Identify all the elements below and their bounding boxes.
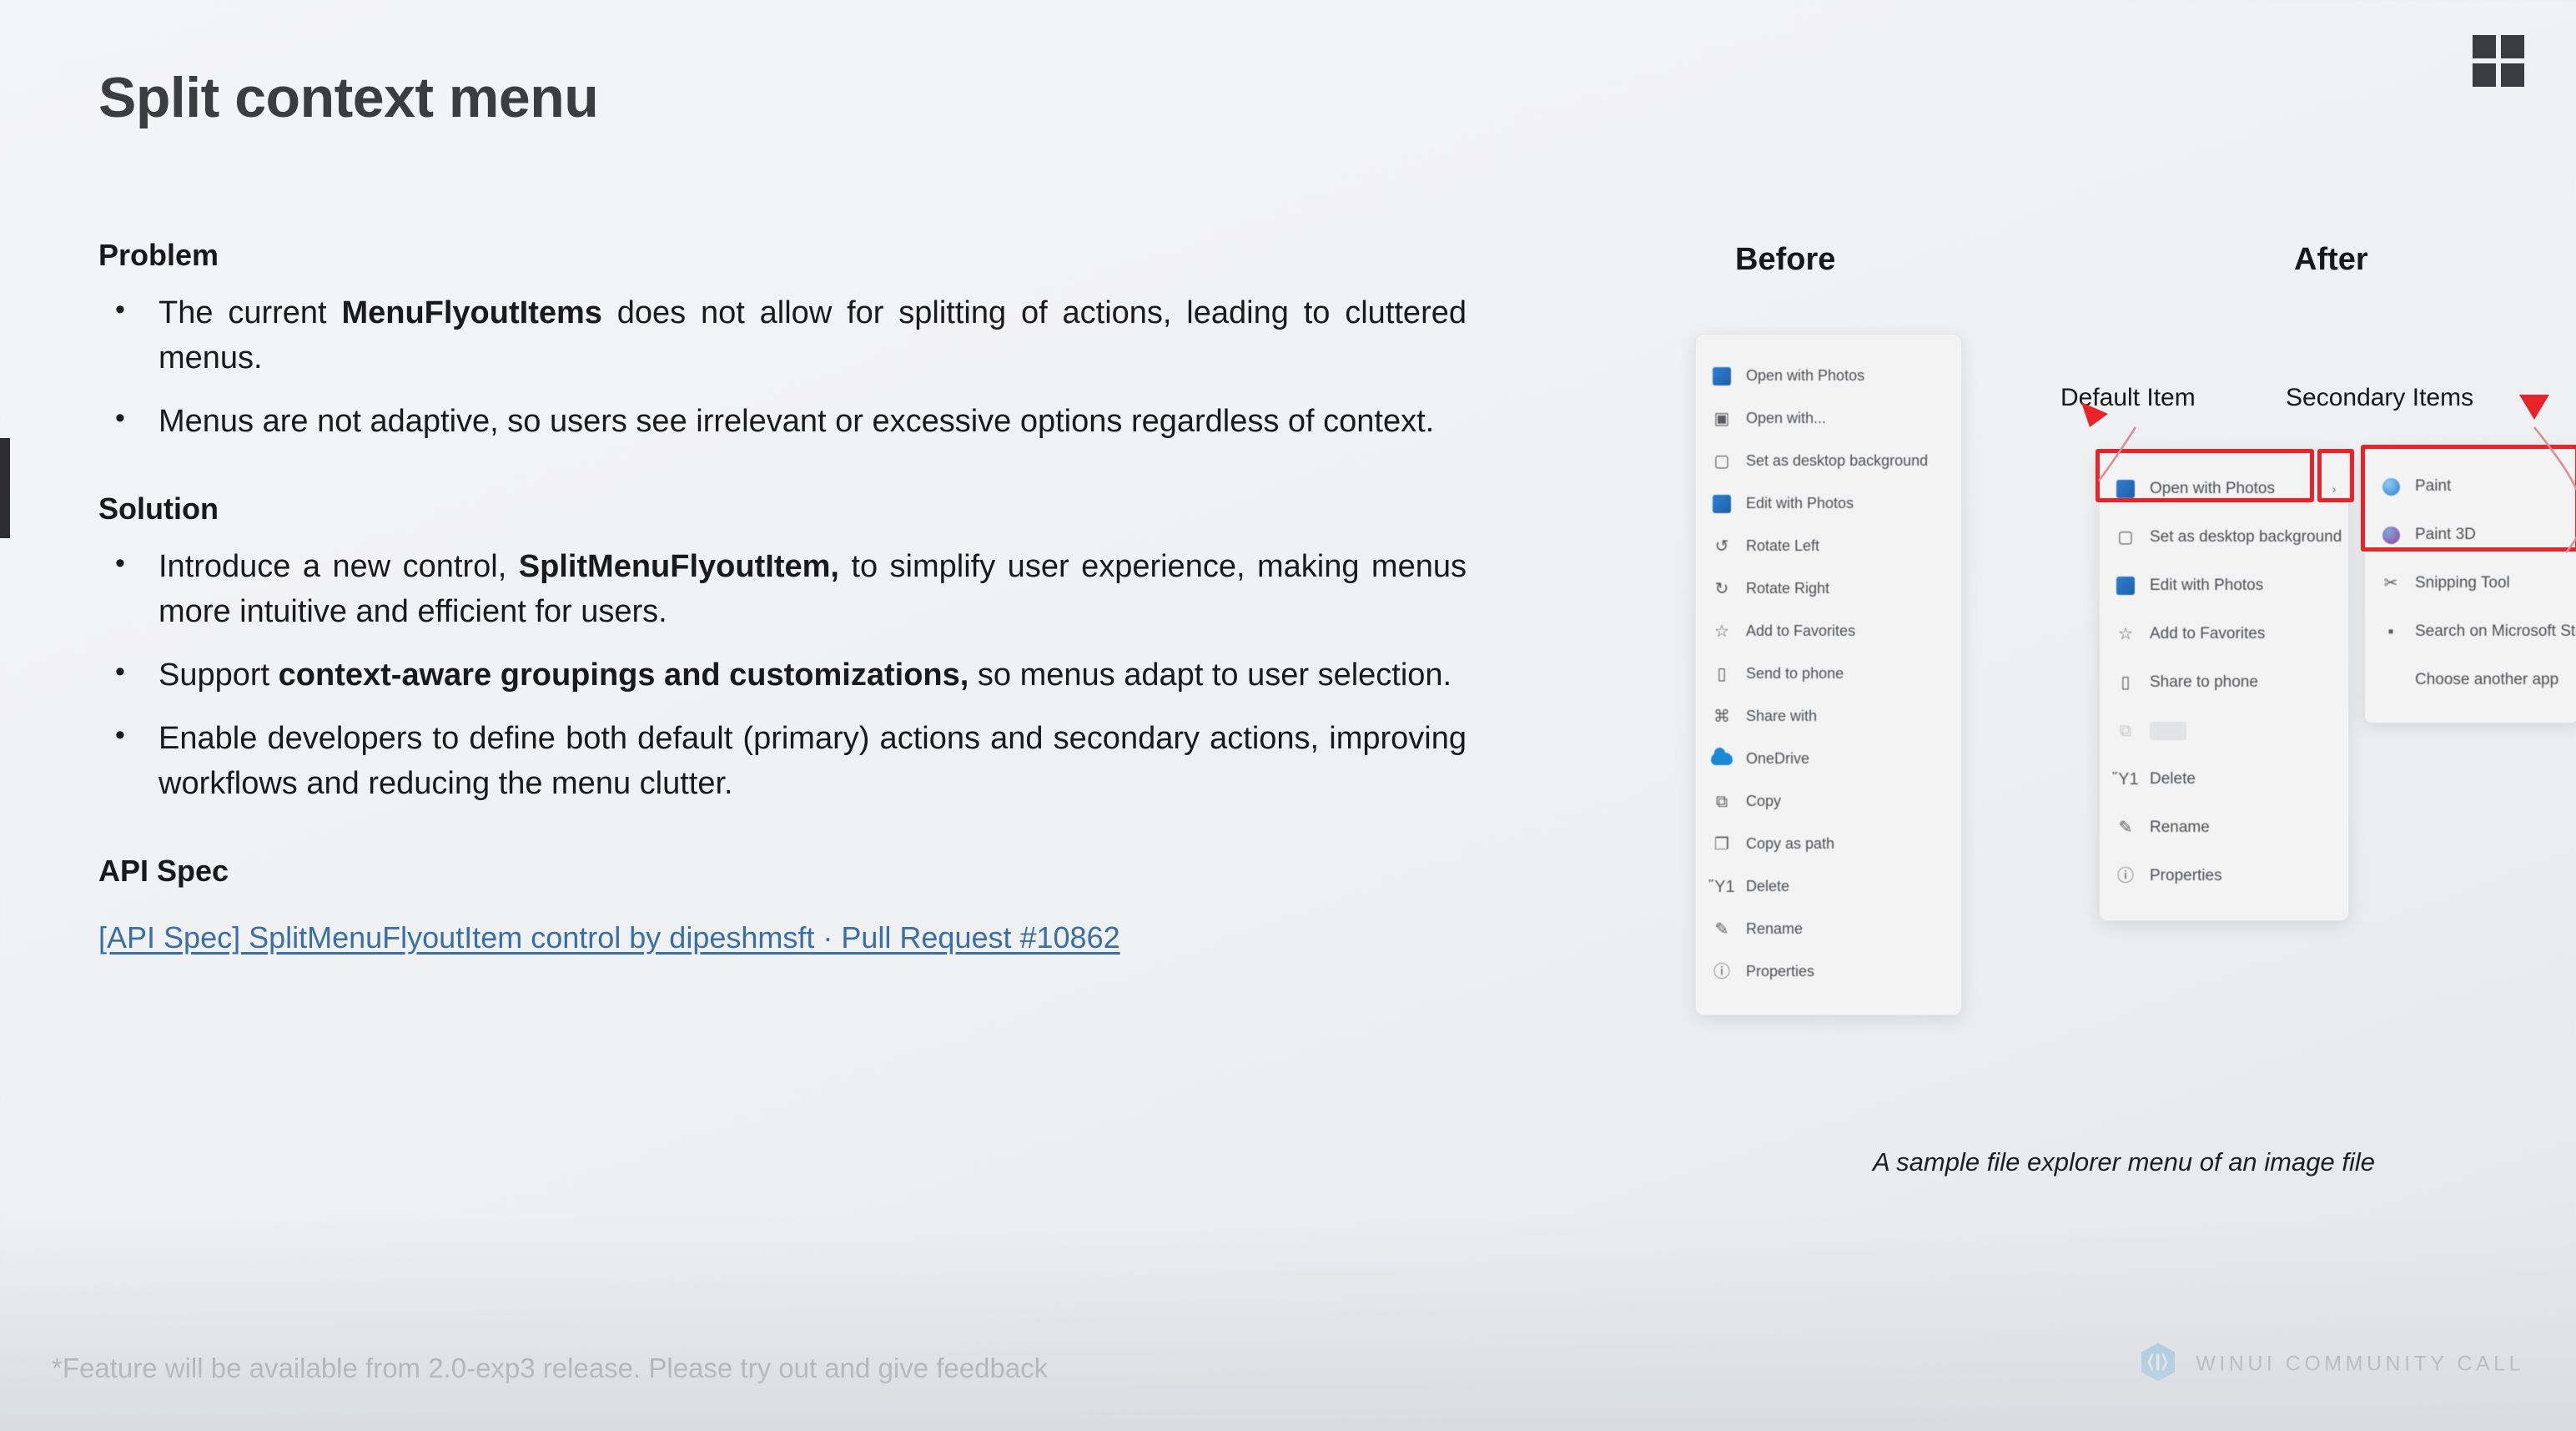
problem-heading: Problem (98, 238, 1467, 273)
before-label: Before (1735, 242, 1835, 278)
menu-item[interactable]: ↺Rotate Left (1696, 525, 1961, 567)
slide-edge-sliver (0, 438, 10, 538)
menu-item-label: Snipping Tool (2415, 574, 2510, 592)
rotate-left-icon: ↺ (1711, 536, 1733, 557)
menu-item[interactable]: ✎Rename (1696, 908, 1961, 950)
menu-item[interactable]: ⓘProperties (1696, 950, 1961, 993)
list-item: The current MenuFlyoutItems does not all… (98, 291, 1467, 381)
snipping-tool-icon: ✂ (2380, 572, 2402, 594)
menu-item[interactable]: Open with Photos (1696, 355, 1961, 397)
trash-icon: Ὕ1 (1711, 876, 1733, 898)
menu-item[interactable]: ▣Open with... (1696, 397, 1961, 440)
bullet-text-bold: context-aware groupings and customizatio… (279, 658, 969, 693)
menu-item-label: Properties (2150, 867, 2222, 885)
secondary-items-highlight-box (2361, 445, 2576, 552)
rename-icon: ✎ (2115, 817, 2136, 839)
properties-icon: ⓘ (1711, 961, 1733, 983)
menu-item-label: Share with (1746, 708, 1817, 725)
menu-item[interactable]: Ὕ1Delete (2100, 755, 2348, 804)
share-icon: ⌘ (1711, 706, 1733, 728)
menu-item[interactable]: Edit with Photos (1696, 482, 1961, 525)
photos-app-icon (2115, 575, 2136, 597)
menu-item-label: Copy (2150, 722, 2186, 740)
windows-logo-icon (2473, 35, 2524, 87)
rename-icon: ✎ (1711, 919, 1733, 940)
menu-item-label: Edit with Photos (2150, 577, 2263, 595)
menu-item[interactable]: ▢Set as desktop background (2100, 513, 2348, 562)
menu-item-label: Set as desktop background (1746, 452, 1928, 470)
menu-item[interactable]: Choose another app (2365, 656, 2576, 704)
solution-heading: Solution (98, 491, 1467, 527)
blank-icon (2380, 669, 2402, 691)
menu-item-label: Rename (1746, 920, 1803, 938)
demo-caption: A sample file explorer menu of an image … (1782, 1147, 2466, 1177)
menu-item-label: Open with Photos (1746, 367, 1864, 385)
menu-item[interactable]: ▢Set as desktop background (1696, 440, 1961, 482)
onedrive-cloud-icon (1711, 748, 1733, 770)
bullet-text-post: so menus adapt to user selection. (969, 658, 1452, 693)
menu-item-label: Rotate Right (1746, 580, 1829, 597)
menu-item-label: Set as desktop background (2150, 528, 2342, 547)
bullet-text-pre: Enable developers to define both default… (158, 721, 1467, 801)
list-item: Menus are not adaptive, so users see irr… (98, 400, 1467, 445)
menu-item-label: Rotate Left (1746, 537, 1819, 555)
trash-icon: Ὕ1 (2115, 768, 2136, 790)
bullet-text-bold: MenuFlyoutItems (341, 295, 601, 330)
after-context-menu[interactable]: Open with Photos›▢Set as desktop backgro… (2099, 451, 2349, 921)
copy-as-path-icon: ❐ (1711, 834, 1733, 855)
menu-item[interactable]: OneDrive (1696, 738, 1961, 780)
solution-bullet-list: Introduce a new control, SplitMenuFlyout… (98, 545, 1467, 807)
list-item: Enable developers to define both default… (98, 717, 1467, 807)
before-context-menu[interactable]: Open with Photos▣Open with...▢Set as des… (1695, 334, 1962, 1015)
menu-item[interactable]: ⓘProperties (2100, 852, 2348, 900)
api-spec-heading: API Spec (98, 854, 1467, 889)
menu-item[interactable]: ▪Search on Microsoft Store (2365, 607, 2576, 656)
bullet-text-pre: Introduce a new control, (158, 549, 519, 584)
star-icon: ☆ (2115, 623, 2136, 645)
menu-item-label: Copy (1746, 793, 1781, 810)
phone-icon: ▯ (1711, 663, 1733, 685)
menu-item-label: Copy as path (1746, 835, 1834, 853)
menu-item-label: Share to phone (2150, 673, 2258, 692)
default-item-annotation-label: Default Item (2060, 384, 2196, 412)
desktop-background-icon: ▢ (2115, 527, 2136, 548)
after-label: After (2294, 242, 2368, 278)
bullet-text-pre: The current (158, 295, 341, 330)
menu-item[interactable]: Edit with Photos (2100, 562, 2348, 610)
menu-item-label: Add to Favorites (2150, 625, 2265, 643)
menu-item-label: Rename (2150, 819, 2210, 837)
menu-item-label: Properties (1746, 963, 1814, 980)
menu-item-label: Open with... (1746, 410, 1826, 427)
menu-item[interactable]: ↻Rotate Right (1696, 567, 1961, 610)
microsoft-store-icon: ▪ (2380, 621, 2402, 642)
menu-item[interactable]: ☆Add to Favorites (2100, 610, 2348, 658)
page-title: Split context menu (98, 65, 598, 130)
menu-item[interactable]: ▯Share to phone (2100, 658, 2348, 707)
open-with-icon: ▣ (1711, 408, 1733, 430)
desktop-background-icon: ▢ (1711, 451, 1733, 472)
menu-item[interactable]: ✎Rename (2100, 804, 2348, 852)
split-chevron-highlight-box (2317, 449, 2354, 502)
secondary-items-arrow-head (2519, 395, 2549, 420)
menu-item[interactable]: ⌘Share with (1696, 695, 1961, 738)
menu-item-label: Delete (2150, 770, 2196, 789)
menu-item-label: Delete (1746, 878, 1789, 895)
menu-item-label: Choose another app (2415, 671, 2558, 689)
bullet-text-bold: SplitMenuFlyoutItem, (519, 549, 839, 584)
rotate-right-icon: ↻ (1711, 578, 1733, 600)
menu-item[interactable]: ☆Add to Favorites (1696, 610, 1961, 653)
menu-item-label: Search on Microsoft Store (2415, 622, 2576, 641)
winui-hexagon-logo-icon (2139, 1342, 2177, 1388)
menu-item[interactable]: ✂Snipping Tool (2365, 559, 2576, 607)
menu-item[interactable]: ⧉Copy (2100, 707, 2348, 755)
photos-app-icon (1711, 365, 1733, 387)
photos-app-icon (1711, 493, 1733, 515)
properties-icon: ⓘ (2115, 865, 2136, 887)
menu-item[interactable]: ▯Send to phone (1696, 653, 1961, 695)
menu-item-label: Send to phone (1746, 665, 1844, 683)
list-item: Support context-aware groupings and cust… (98, 653, 1467, 698)
default-item-highlight-box (2096, 449, 2314, 502)
api-spec-link[interactable]: [API Spec] SplitMenuFlyoutItem control b… (98, 920, 1120, 955)
brand-footer: WINUI COMMUNITY CALL (2139, 1342, 2524, 1388)
menu-item-label: Add to Favorites (1746, 622, 1855, 640)
copy-icon: ⧉ (1711, 791, 1733, 813)
phone-icon: ▯ (2115, 672, 2136, 693)
problem-bullet-list: The current MenuFlyoutItems does not all… (98, 291, 1467, 445)
secondary-items-annotation-label: Secondary Items (2286, 384, 2473, 412)
demo-area: Before After Default Item Secondary Item… (1635, 242, 2576, 1177)
menu-item-label: OneDrive (1746, 750, 1809, 768)
bullet-text-pre: Menus are not adaptive, so users see irr… (158, 404, 1434, 439)
copy-icon: ⧉ (2115, 720, 2136, 742)
menu-item-label: Edit with Photos (1746, 495, 1854, 512)
menu-item[interactable]: ⧉Copy (1696, 780, 1961, 823)
footnote-text: *Feature will be available from 2.0-exp3… (52, 1353, 1048, 1384)
list-item: Introduce a new control, SplitMenuFlyout… (98, 545, 1467, 635)
content-column: Problem The current MenuFlyoutItems does… (98, 238, 1467, 955)
menu-item[interactable]: ❐Copy as path (1696, 823, 1961, 865)
brand-label: WINUI COMMUNITY CALL (2196, 1353, 2524, 1377)
menu-item[interactable]: Ὕ1Delete (1696, 865, 1961, 908)
bullet-text-pre: Support (158, 658, 279, 693)
star-icon: ☆ (1711, 621, 1733, 642)
